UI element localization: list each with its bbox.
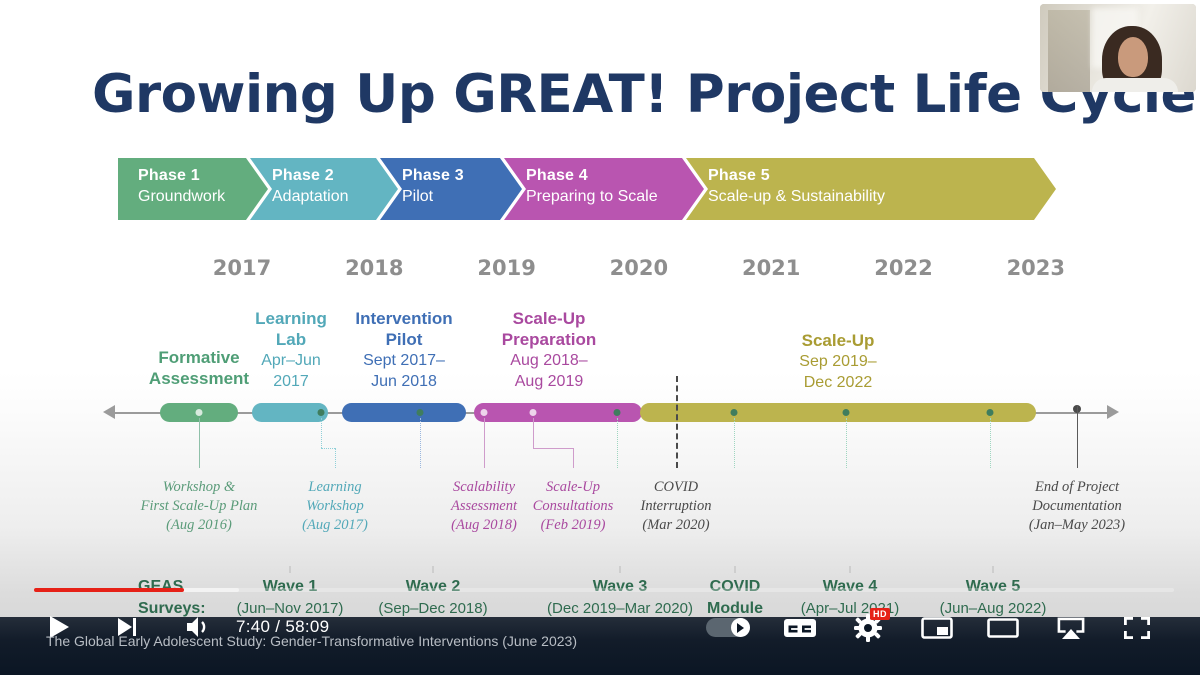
milestone-dot-learning-workshop [318, 409, 325, 416]
wave-title: Wave 2 [378, 576, 487, 598]
phase-label-title-line: Intervention [355, 308, 452, 329]
phase-label-title-line: Formative [149, 347, 249, 368]
connector-line [734, 418, 735, 468]
phase-label-date-line: Aug 2019 [502, 371, 596, 392]
connector-line [990, 418, 991, 468]
annotation-line: Scale-Up [533, 478, 614, 497]
annotation-line: First Scale-Up Plan [141, 497, 258, 516]
connector-line [321, 448, 335, 449]
year-tick-2021: 2021 [742, 256, 800, 280]
fullscreen-icon [1124, 616, 1150, 640]
miniplayer-button[interactable] [920, 616, 954, 640]
phase-label-date-line: Sep 2019– [799, 351, 876, 372]
milestone-dot-wave-4-marker [731, 409, 738, 416]
annotation-line: (Mar 2020) [641, 516, 712, 535]
geas-wave-5: Wave 5(Jun–Aug 2022) [940, 576, 1047, 620]
airplay-icon [1055, 615, 1087, 641]
timeline-segment-scale-up [640, 403, 1036, 422]
milestone-dot-workshop-first-scale-up-plan [196, 409, 203, 416]
phase-label-5: Scale-UpSep 2019–Dec 2022 [799, 330, 876, 393]
annotation-line: (Aug 2017) [302, 516, 368, 535]
annotation-workshop-first-scale-up-plan: Workshop &First Scale-Up Plan(Aug 2016) [141, 478, 258, 535]
connector-line [846, 418, 847, 468]
milestone-dot-wave-5-marker [843, 409, 850, 416]
year-tick-2020: 2020 [610, 256, 668, 280]
phase-label-title-line: Learning [255, 308, 327, 329]
presentation-slide: Growing Up GREAT! Project Life Cycle Pha… [0, 0, 1200, 675]
connector-line [533, 448, 573, 449]
annotation-learning-workshop: LearningWorkshop(Aug 2017) [302, 478, 368, 535]
phase-chevron-2: Phase 2Adaptation [250, 158, 398, 220]
wave-tick-wave-5 [993, 566, 994, 573]
annotation-line: Assessment [451, 497, 517, 516]
timeline-arrow-right-icon [1107, 405, 1119, 419]
video-title: The Global Early Adolescent Study: Gende… [46, 633, 577, 649]
phase-label-date-line: Jun 2018 [355, 371, 452, 392]
wave-tick-wave-4 [850, 566, 851, 573]
year-tick-2017: 2017 [213, 256, 271, 280]
progress-bar[interactable] [34, 588, 1174, 592]
annotation-line: Learning [302, 478, 368, 497]
phase-chevron-title: Phase 5 [708, 166, 1056, 186]
annotation-line: End of Project [1029, 478, 1125, 497]
wave-title: Wave 4 [801, 576, 899, 598]
geas-wave-1: Wave 1(Jun–Nov 2017) [237, 576, 344, 620]
annotation-line: Interruption [641, 497, 712, 516]
wave-title: Wave 3 [547, 576, 693, 598]
connector-line [533, 418, 534, 448]
miniplayer-icon [921, 616, 953, 640]
connector-line [617, 418, 618, 468]
phase-label-title-line: Scale-Up [799, 330, 876, 351]
end-of-project-line [1077, 406, 1078, 468]
milestone-dot-pilot-midpoint [417, 409, 424, 416]
video-player-stage: Growing Up GREAT! Project Life Cycle Pha… [0, 0, 1200, 675]
annotation-line: (Feb 2019) [533, 516, 614, 535]
fullscreen-button[interactable] [1122, 616, 1152, 640]
phase-chevron-title: Phase 2 [272, 166, 398, 186]
phase-label-2: LearningLabApr–Jun2017 [255, 308, 327, 392]
annotation-line: Consultations [533, 497, 614, 516]
annotation-line: COVID [641, 478, 712, 497]
geas-wave-2: Wave 2(Sep–Dec 2018) [378, 576, 487, 620]
theater-icon [987, 616, 1019, 640]
wave-tick-covid-module [735, 566, 736, 573]
phase-label-date-line: Apr–Jun [255, 350, 327, 371]
annotation-covid-interruption: COVIDInterruption(Mar 2020) [641, 478, 712, 535]
geas-covid-module: COVIDModule [707, 576, 763, 620]
timeline-segment-intervention-pilot [342, 403, 466, 422]
theater-button[interactable] [986, 616, 1020, 640]
phase-label-title-line: Lab [255, 329, 327, 350]
wave-title: COVID [707, 576, 763, 598]
wave-tick-wave-1 [290, 566, 291, 573]
connector-line [484, 418, 485, 468]
annotation-line: Scalability [451, 478, 517, 497]
phase-chevron-3: Phase 3Pilot [380, 158, 522, 220]
closed-captions-icon [783, 616, 817, 640]
phase-chevron-title: Phase 4 [526, 166, 704, 186]
annotation-scalability-assessment: ScalabilityAssessment(Aug 2018) [451, 478, 517, 535]
phase-chevron-5: Phase 5Scale-up & Sustainability [686, 158, 1056, 220]
autoplay-knob-icon [731, 618, 750, 637]
milestone-dot-scale-up-end [987, 409, 994, 416]
wave-tick-wave-2 [433, 566, 434, 573]
geas-wave-3: Wave 3(Dec 2019–Mar 2020) [547, 576, 693, 620]
annotation-line: Workshop [302, 497, 368, 516]
phase-label-date-line: Dec 2022 [799, 372, 876, 393]
hd-quality-badge: HD [870, 608, 890, 620]
phase-chevron-title: Phase 3 [402, 166, 522, 186]
milestone-dot-scale-up-consultations [530, 409, 537, 416]
year-tick-2023: 2023 [1007, 256, 1065, 280]
wave-title: Wave 5 [940, 576, 1047, 598]
timeline-arrow-left-icon [103, 405, 115, 419]
annotation-line: Documentation [1029, 497, 1125, 516]
annotation-line: (Aug 2016) [141, 516, 258, 535]
phase-label-date-line: 2017 [255, 371, 327, 392]
phase-label-title-line: Pilot [355, 329, 452, 350]
phase-chevron-title: Phase 1 [138, 166, 268, 186]
annotation-scale-up-consultations: Scale-UpConsultations(Feb 2019) [533, 478, 614, 535]
covid-dashed-line [676, 376, 678, 468]
year-tick-2018: 2018 [345, 256, 403, 280]
annotation-line: (Aug 2018) [451, 516, 517, 535]
year-tick-2022: 2022 [874, 256, 932, 280]
phase-chevron-subtitle: Pilot [402, 186, 522, 208]
connector-line [321, 418, 322, 448]
airplay-button[interactable] [1054, 614, 1088, 642]
page-title: Growing Up GREAT! Project Life Cycle [92, 64, 1152, 125]
autoplay-toggle[interactable] [706, 618, 750, 637]
milestone-dot-scale-up-start [614, 409, 621, 416]
phase-label-3: InterventionPilotSept 2017–Jun 2018 [355, 308, 452, 392]
connector-line [335, 448, 336, 468]
phase-label-date-line: Sept 2017– [355, 350, 452, 371]
phase-label-date-line: Aug 2018– [502, 350, 596, 371]
presenter-torso [1092, 78, 1178, 92]
year-tick-2019: 2019 [477, 256, 535, 280]
phase-chevron-1: Phase 1Groundwork [118, 158, 268, 220]
phase-label-title-line: Scale-Up [502, 308, 596, 329]
wave-tick-wave-3 [620, 566, 621, 573]
presenter-face [1118, 37, 1148, 77]
connector-line [573, 448, 574, 468]
phase-chevron-subtitle: Adaptation [272, 186, 398, 208]
phase-label-title-line: Assessment [149, 368, 249, 389]
milestone-dot-scalability-assessment [481, 409, 488, 416]
wave-title: Wave 1 [237, 576, 344, 598]
annotation-line: (Jan–May 2023) [1029, 516, 1125, 535]
webcam-doorframe [1048, 10, 1090, 92]
phase-label-1: FormativeAssessment [149, 347, 249, 389]
captions-button[interactable] [782, 616, 818, 640]
phase-chevron-subtitle: Preparing to Scale [526, 186, 704, 208]
annotation-end-of-project-documentation: End of ProjectDocumentation(Jan–May 2023… [1029, 478, 1125, 535]
phase-label-title-line: Preparation [502, 329, 596, 350]
phase-label-4: Scale-UpPreparationAug 2018–Aug 2019 [502, 308, 596, 392]
phase-chevron-row: Phase 1GroundworkPhase 2AdaptationPhase … [118, 158, 1038, 220]
progress-played [34, 588, 184, 592]
annotation-line: Workshop & [141, 478, 258, 497]
geas-label-line: GEAS [138, 576, 206, 598]
phase-chevron-4: Phase 4Preparing to Scale [504, 158, 704, 220]
presenter-webcam-overlay [1040, 4, 1196, 92]
phase-chevron-subtitle: Groundwork [138, 186, 268, 208]
phase-chevron-subtitle: Scale-up & Sustainability [708, 186, 1056, 208]
connector-line [199, 418, 200, 468]
connector-line [420, 418, 421, 468]
